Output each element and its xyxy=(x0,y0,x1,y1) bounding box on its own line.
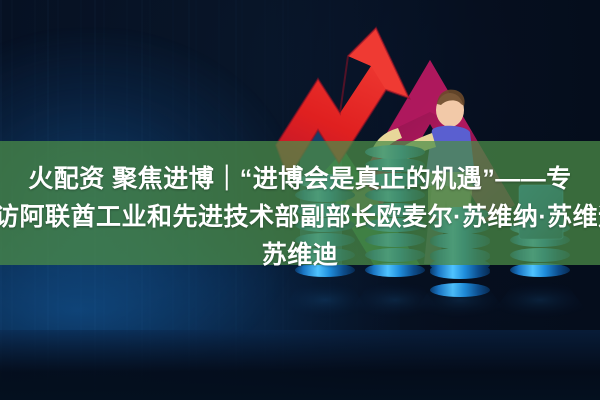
headline: 火配资 聚焦进博｜“进博会是真正的机遇”——专 访阿联酋工业和先进技术部副部长欧… xyxy=(0,160,600,274)
banner-image: 火配资 聚焦进博｜“进博会是真正的机遇”——专 访阿联酋工业和先进技术部副部长欧… xyxy=(0,0,600,400)
headline-line-3: 苏维迪 xyxy=(0,236,600,274)
headline-line-1: 火配资 聚焦进博｜“进博会是真正的机遇”——专 xyxy=(0,160,600,198)
ground-reflections xyxy=(278,282,592,318)
headline-line-2: 访阿联酋工业和先进技术部副部长欧麦尔·苏维纳·苏维迪 xyxy=(0,198,600,236)
